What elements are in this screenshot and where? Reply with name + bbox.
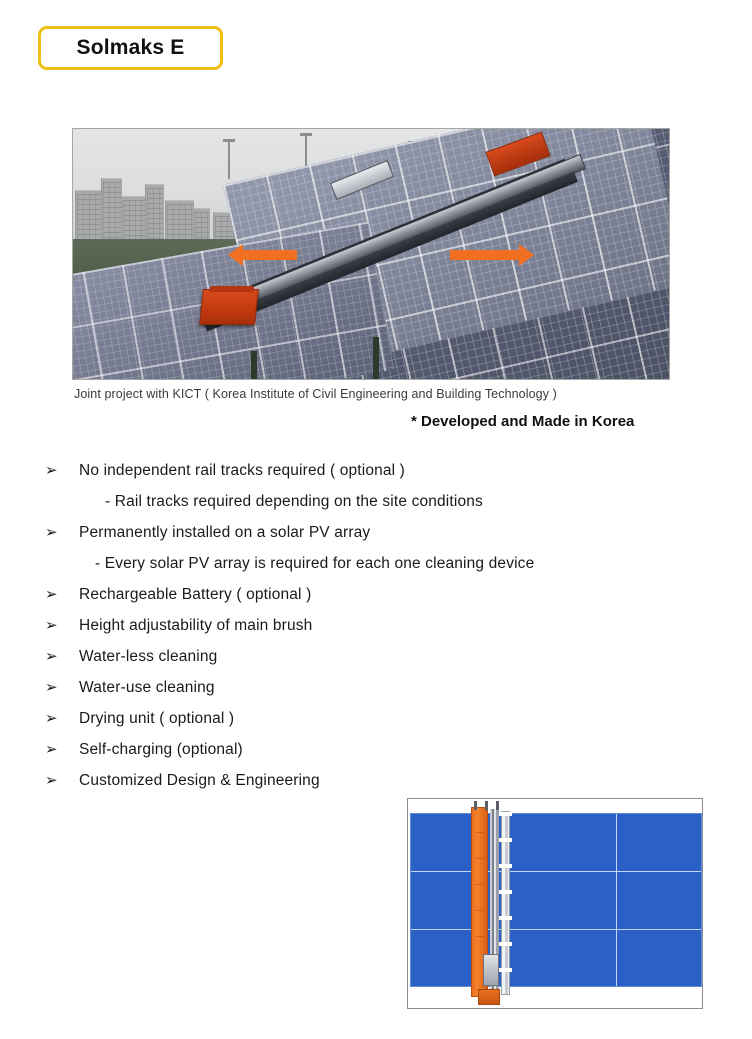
list-item-label: Water-use cleaning — [79, 672, 215, 703]
cleaner-top-brackets — [472, 801, 506, 810]
bullet-arrow-icon: ➢ — [45, 672, 58, 703]
direction-arrow-right — [450, 250, 520, 260]
list-item: ➢Customized Design & Engineering — [0, 765, 752, 796]
solar-panel-cleaning-robot-photo — [72, 128, 670, 380]
bullet-arrow-icon: ➢ — [45, 610, 58, 641]
list-item: ➢Height adjustability of main brush — [0, 610, 752, 641]
list-item-label: No independent rail tracks required ( op… — [79, 455, 405, 486]
photo-caption: Joint project with KICT ( Korea Institut… — [74, 387, 557, 401]
list-item: ➢Water-less cleaning — [0, 641, 752, 672]
list-item: ➢Drying unit ( optional ) — [0, 703, 752, 734]
list-item-label: Water-less cleaning — [79, 641, 217, 672]
list-item-label: Drying unit ( optional ) — [79, 703, 234, 734]
list-item: - Rail tracks required depending on the … — [0, 486, 752, 517]
array-support-post — [373, 337, 379, 380]
list-item-label: Customized Design & Engineering — [79, 765, 320, 796]
list-item-label: - Rail tracks required depending on the … — [105, 486, 483, 517]
bullet-arrow-icon: ➢ — [45, 641, 58, 672]
cleaner-base-foot — [478, 989, 500, 1005]
cleaner-drive-box — [199, 289, 259, 325]
list-item: ➢No independent rail tracks required ( o… — [0, 455, 752, 486]
list-item: ➢Self-charging (optional) — [0, 734, 752, 765]
list-item: ➢Rechargeable Battery ( optional ) — [0, 579, 752, 610]
list-item-label: Height adjustability of main brush — [79, 610, 312, 641]
cleaner-motor-unit — [483, 954, 499, 986]
list-item: - Every solar PV array is required for e… — [0, 548, 752, 579]
cleaner-brush-roller — [501, 811, 510, 995]
array-support-post — [251, 351, 257, 380]
pv-panel-render — [410, 813, 702, 987]
bullet-arrow-icon: ➢ — [45, 703, 58, 734]
page-title: Solmaks E — [76, 36, 184, 60]
list-item-label: Self-charging (optional) — [79, 734, 243, 765]
list-item: ➢Water-use cleaning — [0, 672, 752, 703]
list-item-label: Permanently installed on a solar PV arra… — [79, 517, 370, 548]
made-in-korea-note: * Developed and Made in Korea — [411, 413, 634, 430]
list-item-label: - Every solar PV array is required for e… — [95, 548, 534, 579]
bullet-arrow-icon: ➢ — [45, 579, 58, 610]
bullet-arrow-icon: ➢ — [45, 734, 58, 765]
bullet-arrow-icon: ➢ — [45, 455, 58, 486]
feature-list: ➢No independent rail tracks required ( o… — [0, 455, 752, 796]
cleaning-device-cad-render — [407, 798, 703, 1009]
list-item: ➢Permanently installed on a solar PV arr… — [0, 517, 752, 548]
bullet-arrow-icon: ➢ — [45, 765, 58, 796]
direction-arrow-left — [242, 250, 297, 260]
title-badge: Solmaks E — [38, 26, 223, 70]
bullet-arrow-icon: ➢ — [45, 517, 58, 548]
list-item-label: Rechargeable Battery ( optional ) — [79, 579, 311, 610]
